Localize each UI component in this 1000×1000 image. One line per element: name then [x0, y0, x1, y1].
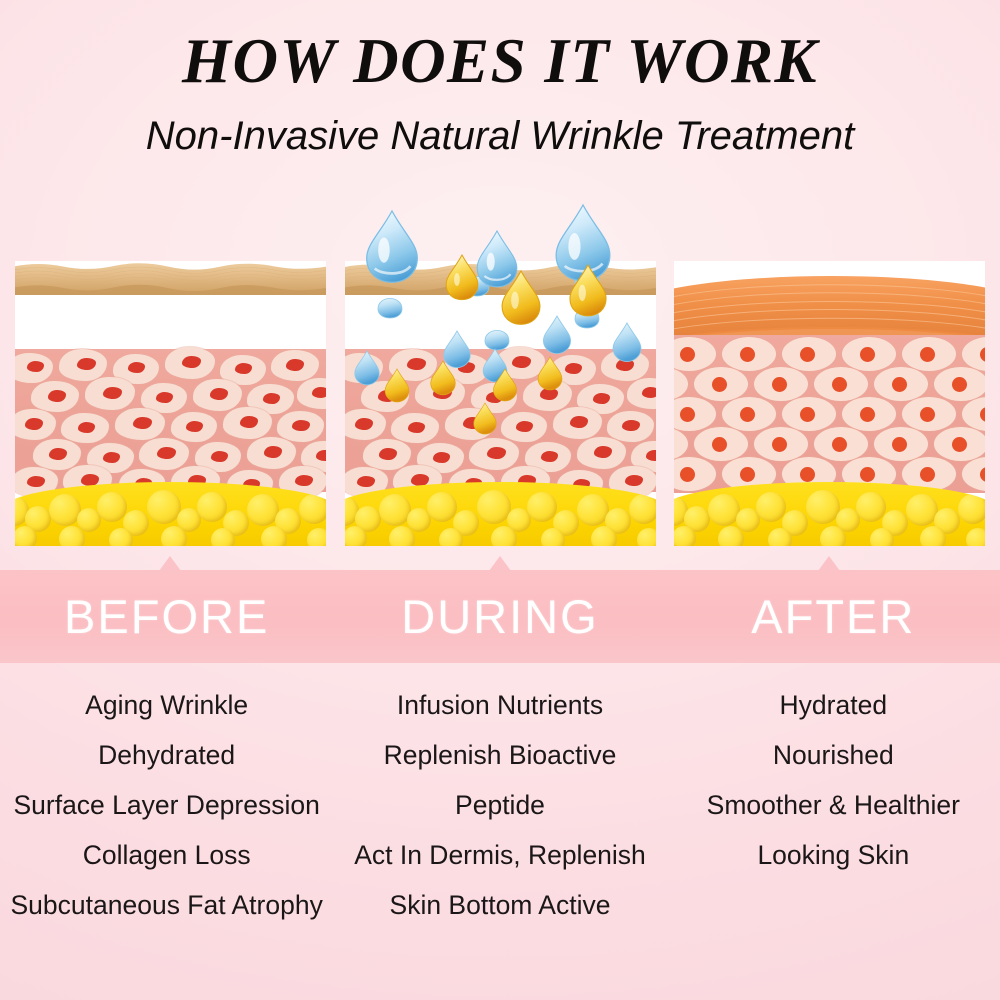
illustration-row: [0, 0, 1000, 560]
note-item: Smoother & Healthier: [707, 780, 960, 830]
note-item: Aging Wrinkle: [85, 680, 248, 730]
cell-cluster-irregular: [15, 349, 326, 492]
note-item: Nourished: [773, 730, 894, 780]
note-item: Collagen Loss: [83, 830, 251, 880]
oil-drop-left: [446, 255, 478, 300]
notes-column-after: Hydrated Nourished Smoother & Healthier …: [667, 680, 1000, 980]
water-drop-medium: [477, 231, 517, 287]
note-item: Surface Layer Depression: [13, 780, 319, 830]
notch-during-icon: [489, 556, 511, 571]
water-drop-large-right: [556, 205, 610, 281]
note-item: Looking Skin: [757, 830, 909, 880]
panel-before: [15, 261, 326, 546]
note-item: Skin Bottom Active: [390, 880, 611, 930]
note-item: Infusion Nutrients: [397, 680, 603, 730]
note-item: Subcutaneous Fat Atrophy: [11, 880, 323, 930]
stage-label-band: BEFORE DURING AFTER: [0, 570, 1000, 663]
notch-after-icon: [818, 556, 840, 571]
note-item: Hydrated: [780, 680, 888, 730]
panel-after: [674, 261, 985, 546]
dermis-layer-before: [15, 349, 326, 492]
fat-layer-before: [15, 482, 326, 546]
fat-layer-after: [674, 482, 985, 546]
stage-label-before: BEFORE: [64, 593, 269, 640]
water-drop-large: [367, 211, 418, 282]
cell-cluster-regular: [674, 335, 985, 493]
epidermis-wavy-before: [15, 261, 326, 295]
note-item: Dehydrated: [98, 730, 235, 780]
stage-label-during: DURING: [401, 593, 598, 640]
notes-column-during: Infusion Nutrients Replenish Bioactive P…: [333, 680, 666, 980]
stage-label-cell-after: AFTER: [667, 570, 1000, 663]
notes-column-before: Aging Wrinkle Dehydrated Surface Layer D…: [0, 680, 333, 980]
panel-during: [345, 261, 656, 546]
note-item: Act In Dermis, Replenish: [354, 830, 646, 880]
note-item: Peptide: [455, 780, 545, 830]
notes-columns: Aging Wrinkle Dehydrated Surface Layer D…: [0, 680, 1000, 980]
falling-droplets: [345, 189, 656, 549]
poster-canvas: HOW DOES IT WORK Non-Invasive Natural Wr…: [0, 0, 1000, 1000]
stage-label-after: AFTER: [751, 593, 915, 640]
notch-before-icon: [159, 556, 181, 571]
stage-label-cell-during: DURING: [333, 570, 666, 663]
dermis-layer-after: [674, 335, 985, 493]
stage-label-cell-before: BEFORE: [0, 570, 333, 663]
note-item: Replenish Bioactive: [384, 730, 617, 780]
